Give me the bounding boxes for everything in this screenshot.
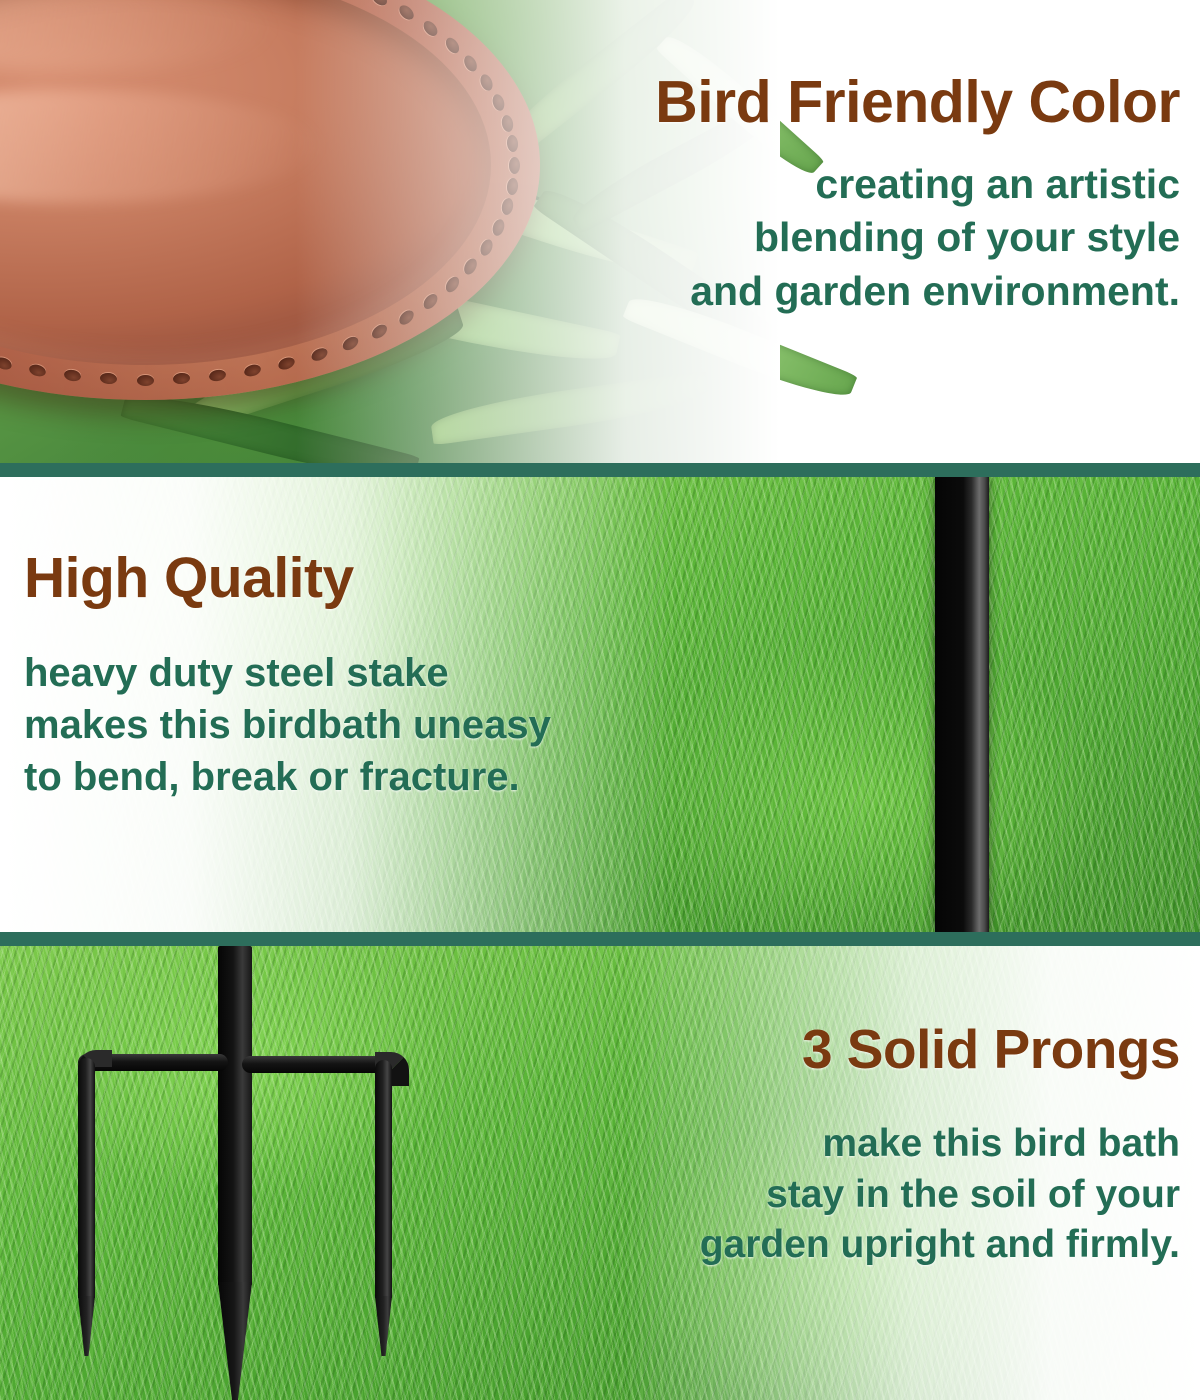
panel-1-body: creating an artistic blending of your st… <box>655 158 1180 318</box>
panel-3-heading: 3 Solid Prongs <box>700 1021 1180 1077</box>
stake-center-shaft <box>218 946 252 1286</box>
panel-2-heading: High Quality <box>24 549 551 607</box>
panel-divider <box>0 932 1200 946</box>
panel-3-body: make this bird bath stay in the soil of … <box>700 1119 1180 1271</box>
stake-prong-point-right <box>375 1296 392 1356</box>
panel-2-body-line: to bend, break or fracture. <box>24 751 551 803</box>
feature-panel-bird-friendly-color: Bird Friendly Color creating an artistic… <box>0 0 1200 463</box>
panel-divider <box>0 463 1200 477</box>
three-prong-stake <box>0 946 600 1400</box>
stake-prong-right <box>375 1060 392 1298</box>
panel-3-text: 3 Solid Prongs make this bird bath stay … <box>700 1021 1180 1271</box>
panel-2-text: High Quality heavy duty steel stake make… <box>24 549 551 803</box>
feature-panel-three-solid-prongs: 3 Solid Prongs make this bird bath stay … <box>0 946 1200 1400</box>
panel-2-body-line: makes this birdbath uneasy <box>24 699 551 751</box>
panel-2-body-line: heavy duty steel stake <box>24 647 551 699</box>
stake-arm-right <box>242 1056 392 1073</box>
stake-center-point <box>218 1282 252 1400</box>
panel-1-text: Bird Friendly Color creating an artistic… <box>655 72 1180 318</box>
panel-1-heading: Bird Friendly Color <box>655 72 1180 132</box>
bowl-dimple <box>137 375 154 386</box>
panel-1-body-line: creating an artistic <box>655 158 1180 211</box>
panel-2-body: heavy duty steel stake makes this birdba… <box>24 647 551 803</box>
feature-panel-high-quality: High Quality heavy duty steel stake make… <box>0 477 1200 932</box>
panel-3-body-line: garden upright and firmly. <box>700 1220 1180 1271</box>
steel-pole <box>935 477 989 932</box>
panel-1-body-line: and garden environment. <box>655 265 1180 318</box>
panel-3-body-line: stay in the soil of your <box>700 1170 1180 1221</box>
product-infographic: Bird Friendly Color creating an artistic… <box>0 0 1200 1400</box>
stake-prong-left <box>78 1058 95 1298</box>
panel-3-body-line: make this bird bath <box>700 1119 1180 1170</box>
stake-prong-point-left <box>78 1296 95 1356</box>
panel-1-body-line: blending of your style <box>655 211 1180 264</box>
